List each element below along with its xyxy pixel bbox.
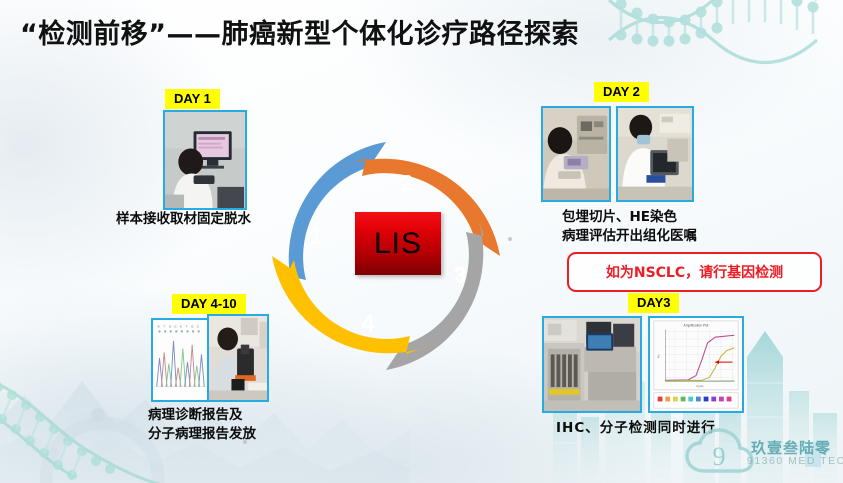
lis-label: LIS — [374, 227, 422, 261]
cycle-segment-2-number: 2 — [401, 170, 414, 196]
svg-text:9: 9 — [713, 442, 726, 471]
watermark-logo: 9 玖壹叁陆零 91360 MED TECH — [685, 427, 837, 479]
technician-at-computer-photo — [165, 112, 245, 208]
day4-caption-line2: 分子病理报告发放 — [148, 425, 256, 444]
day3-photo-right: Amplification Plot Rn Cycle — [648, 316, 744, 413]
day1-tag: DAY 1 — [165, 89, 220, 109]
day2-photo-left — [541, 106, 611, 202]
microtome-operator-photo — [618, 108, 692, 200]
day4-tag: DAY 4-10 — [172, 294, 246, 314]
day1-caption: 样本接收取材固定脱水 — [116, 210, 251, 229]
lis-center-box[interactable]: LIS — [355, 212, 441, 275]
dna-helix-icon — [603, 0, 843, 86]
slide-canvas: “检测前移”——肺癌新型个体化诊疗路径探索 DAY 1 样本接收取材固定脱水 D… — [0, 0, 843, 483]
cycle-segment-3-number: 3 — [454, 262, 467, 288]
lab-instrument-photo — [544, 318, 640, 411]
embedding-station-photo — [543, 108, 609, 200]
svg-text:Cycle: Cycle — [696, 384, 704, 388]
dna-helix-icon — [0, 379, 168, 483]
amplification-plot-photo: Amplification Plot Rn Cycle — [650, 318, 742, 411]
svg-text:C: C — [174, 325, 176, 329]
svg-text:T: T — [163, 325, 165, 329]
day2-photo-right — [616, 106, 694, 202]
day1-caption-line1: 样本接收取材固定脱水 — [116, 211, 251, 227]
day3-tag: DAY3 — [628, 293, 679, 313]
page-title: “检测前移”——肺癌新型个体化诊疗路径探索 — [20, 12, 579, 51]
watermark-en-text: 91360 MED TECH — [747, 455, 843, 467]
callout-box: 如为NSCLC，请行基因检测 — [567, 252, 822, 292]
svg-text:C: C — [197, 325, 199, 329]
day2-tag: DAY 2 — [594, 82, 649, 102]
svg-text:G: G — [169, 325, 171, 329]
cycle-segment-4-number: 4 — [362, 310, 375, 336]
svg-text:A: A — [158, 325, 160, 329]
day4-caption-line1: 病理诊断报告及 — [148, 406, 256, 425]
day2-caption-line1: 包埋切片、HE染色 — [562, 208, 697, 227]
sequencing-trace-photo: AT GC AT GC — [153, 320, 208, 400]
svg-text:Amplification Plot: Amplification Plot — [684, 324, 709, 328]
svg-text:G: G — [191, 325, 193, 329]
svg-text:A: A — [180, 325, 182, 329]
day1-photo — [163, 110, 247, 210]
day2-caption: 包埋切片、HE染色 病理评估开出组化医嘱 — [562, 208, 697, 246]
callout-text: 如为NSCLC，请行基因检测 — [606, 262, 783, 282]
day4-photo-left: AT GC AT GC — [151, 318, 210, 402]
cycle-segment-1-number: 1 — [310, 223, 323, 249]
day3-photo-left — [542, 316, 642, 413]
microscope-operator-photo — [209, 316, 267, 400]
day2-caption-line2: 病理评估开出组化医嘱 — [562, 227, 697, 246]
day4-caption: 病理诊断报告及 分子病理报告发放 — [148, 406, 256, 444]
day4-photo-right — [207, 314, 269, 402]
svg-text:Rn: Rn — [657, 354, 661, 358]
svg-text:T: T — [186, 325, 188, 329]
